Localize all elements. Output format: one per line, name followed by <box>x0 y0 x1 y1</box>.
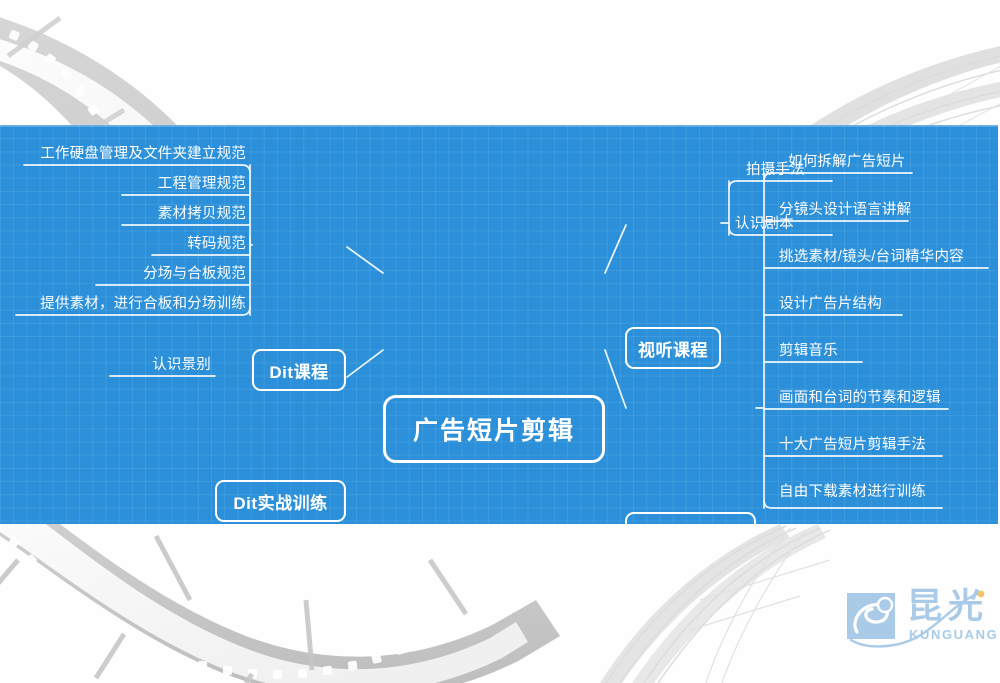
leaf-dit-3[interactable]: 素材拷贝规范 <box>122 207 246 222</box>
leaf-dit-6[interactable]: 提供素材，进行合板和分场训练 <box>16 297 246 312</box>
branch-node-audiovisual[interactable]: 视听课程 <box>625 327 721 369</box>
branch-node-dit-practice[interactable]: Dit实战训练 <box>215 480 346 522</box>
center-node-label: 广告短片剪辑 <box>413 411 575 447</box>
slide-canvas: 广告短片剪辑 Dit课程 Dit实战训练 视听课程 广告剪辑讲解 工作硬盘管理及… <box>0 0 1000 683</box>
branch-node-ad-editing[interactable]: 广告剪辑讲解 <box>625 512 756 524</box>
leaf-audiovisual-2[interactable]: 认识剧本 <box>735 217 855 232</box>
leaf-ad-editing-6[interactable]: 画面和台词的节奏和逻辑 <box>779 391 998 406</box>
film-strip-bottom-right <box>600 524 830 683</box>
leaf-dit-practice-1[interactable]: 认识景别 <box>110 358 211 373</box>
branch-node-dit-label: Dit课程 <box>269 358 328 383</box>
mindmap-panel: 广告短片剪辑 Dit课程 Dit实战训练 视听课程 广告剪辑讲解 工作硬盘管理及… <box>0 125 998 524</box>
leaf-ad-editing-8[interactable]: 自由下载素材进行训练 <box>779 485 979 500</box>
leaf-ad-editing-2[interactable]: 分镜头设计语言讲解 <box>779 203 979 218</box>
brand-logo: 昆光 KUNGUANG <box>845 588 995 648</box>
branch-node-dit[interactable]: Dit课程 <box>252 349 346 391</box>
leaf-dit-4[interactable]: 转码规范 <box>152 237 246 252</box>
leaf-ad-editing-3[interactable]: 挑选素材/镜头/台词精华内容 <box>779 250 998 265</box>
leaf-ad-editing-5[interactable]: 剪辑音乐 <box>779 344 939 359</box>
branch-node-dit-practice-label: Dit实战训练 <box>233 489 327 514</box>
branch-node-ad-editing-label: 广告剪辑讲解 <box>638 521 743 525</box>
branch-node-audiovisual-label: 视听课程 <box>638 336 708 361</box>
leaf-dit-1[interactable]: 工作硬盘管理及文件夹建立规范 <box>24 147 246 162</box>
leaf-dit-2[interactable]: 工程管理规范 <box>122 177 246 192</box>
logo-english-text: KUNGUANG <box>909 628 998 641</box>
leaf-ad-editing-7[interactable]: 十大广告短片剪辑手法 <box>779 438 979 453</box>
mindmap-center-node[interactable]: 广告短片剪辑 <box>383 395 605 463</box>
leaf-dit-5[interactable]: 分场与合板规范 <box>96 267 246 282</box>
leaf-ad-editing-1[interactable]: 如何拆解广告短片 <box>788 155 988 170</box>
leaf-ad-editing-4[interactable]: 设计广告片结构 <box>779 297 979 312</box>
logo-chinese-text: 昆光 <box>907 590 989 625</box>
